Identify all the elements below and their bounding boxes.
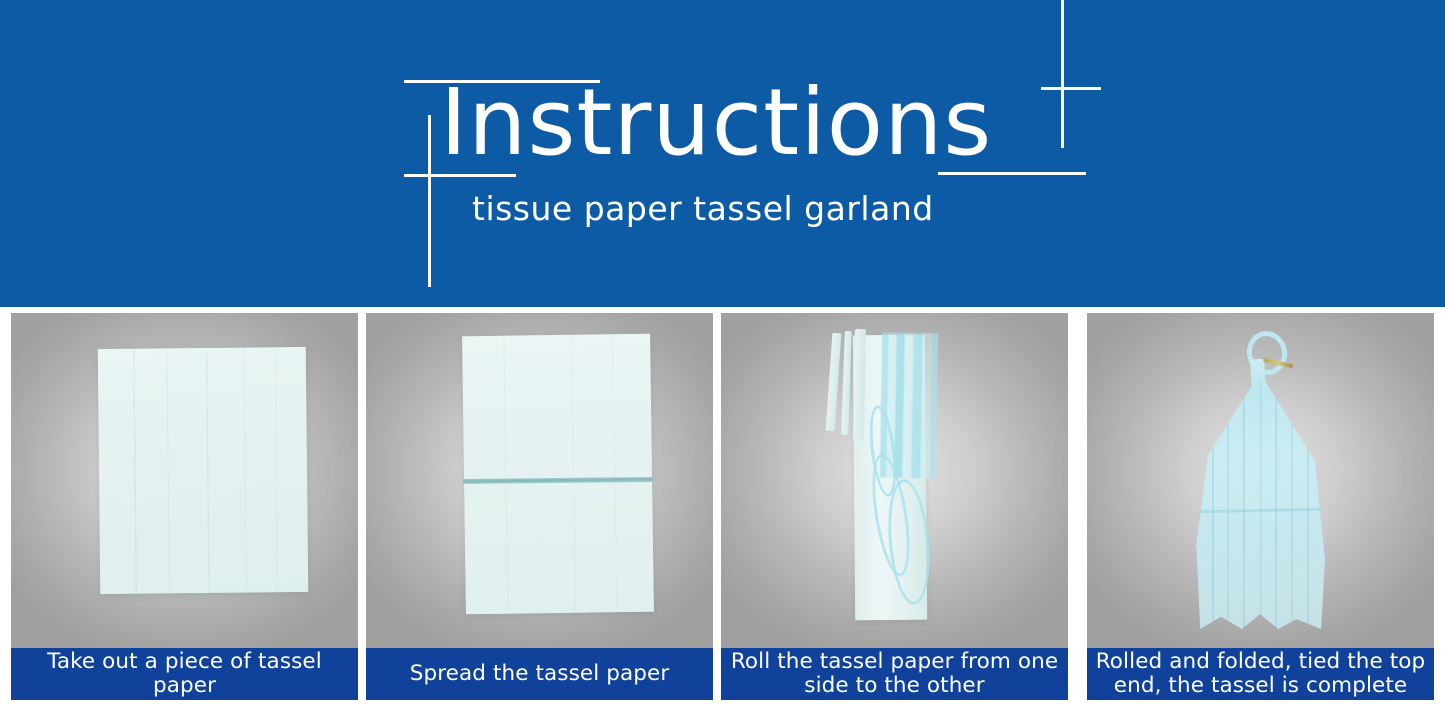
step-caption-3: Roll the tassel paper from one side to t… [721,648,1068,700]
step-panel-2: Spread the tassel paper [366,313,713,708]
step-caption-2: Spread the tassel paper [366,648,713,700]
decorative-line-vertical-left [428,115,431,287]
tissue-strip-1 [826,333,842,431]
step-panel-4: Rolled and folded, tied the top end, the… [1087,313,1434,708]
decorative-line-mid-right [1041,87,1101,90]
step-photo-3 [721,313,1068,648]
step-photo-2 [366,313,713,648]
tissue-sheet-flat [98,347,309,594]
tissue-strip-3 [853,329,866,441]
tissue-sheet-spread [462,334,654,615]
step-caption-1: Take out a piece of tassel paper [11,648,358,700]
step-panel-1: Take out a piece of tassel paper [11,313,358,708]
page-title: Instructions [440,77,992,169]
step-panel-3: Roll the tassel paper from one side to t… [721,313,1068,708]
step-photo-1 [11,313,358,648]
tassel-fringe-skirt [1195,381,1325,629]
header-banner: Instructions tissue paper tassel garland [0,0,1445,307]
instruction-steps: Take out a piece of tassel paper Spread … [0,313,1445,708]
step-photo-4 [1087,313,1434,648]
step-caption-4: Rolled and folded, tied the top end, the… [1087,648,1434,700]
tissue-strip-2 [841,331,852,435]
decorative-line-vertical-right [1061,0,1064,148]
page-subtitle: tissue paper tassel garland [472,192,934,225]
